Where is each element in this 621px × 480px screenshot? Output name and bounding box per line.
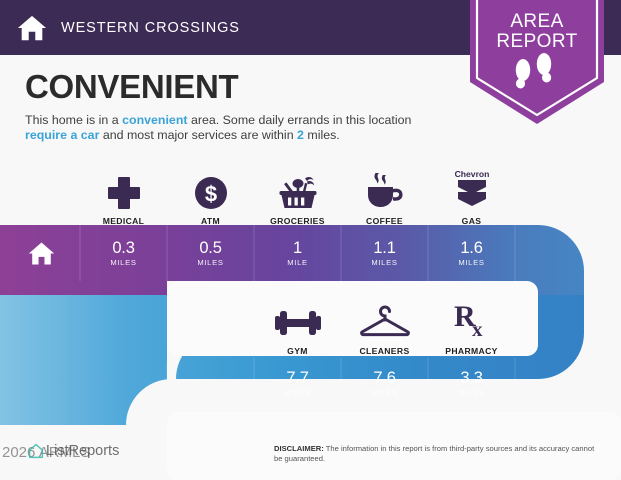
- distance-cell-atm: 0.5 MILES: [167, 239, 254, 267]
- clothes-hanger-icon: [359, 298, 411, 340]
- medical-cross-icon: [107, 168, 141, 210]
- badge-line-1: AREA: [470, 12, 604, 32]
- amenity-coffee: COFFEE: [341, 168, 428, 226]
- distance-row-1: 0.3 MILES 0.5 MILES 1 MILE 1.1 MILES 1.6…: [80, 239, 515, 267]
- report-description: This home is in a convenient area. Some …: [25, 113, 445, 142]
- distance-value: 7.6: [341, 369, 428, 387]
- distance-unit: MILES: [341, 388, 428, 397]
- amenity-icons-row-1: MEDICAL $ ATM: [80, 168, 515, 226]
- chevron-gas-icon: Chevron: [449, 168, 495, 210]
- svg-text:$: $: [204, 182, 216, 207]
- desc-part-3: and most major services are within: [99, 128, 297, 142]
- badge-line-2: REPORT: [470, 32, 604, 52]
- amenity-pharmacy: R x PHARMACY: [428, 298, 515, 356]
- community-name: WESTERN CROSSINGS: [61, 20, 240, 36]
- amenity-cleaners: CLEANERS: [341, 298, 428, 356]
- amenity-label: GYM: [287, 346, 308, 356]
- listreports-logo-text: ListReports: [46, 443, 119, 459]
- amenity-icons-row-2: GYM CLEANERS R x PHARMACY: [254, 298, 515, 356]
- disclaimer: DISCLAIMER: The information in this repo…: [274, 444, 604, 464]
- svg-text:x: x: [472, 317, 483, 340]
- distance-value: 7.7: [254, 369, 341, 387]
- home-icon: [17, 13, 47, 43]
- amenity-atm: $ ATM: [167, 168, 254, 226]
- distance-value: 0.3: [80, 239, 167, 257]
- rx-prescription-icon: R x: [452, 298, 492, 340]
- distance-value: 1.6: [428, 239, 515, 257]
- area-report-badge: AREA REPORT: [470, 0, 604, 124]
- desc-highlight-2: require a car: [25, 128, 99, 142]
- amenity-label: ATM: [201, 216, 220, 226]
- ribbon-home-icon: [28, 240, 55, 267]
- grocery-basket-icon: [278, 168, 318, 210]
- distance-unit: MILE: [254, 258, 341, 267]
- disclaimer-label: DISCLAIMER:: [274, 444, 324, 453]
- distance-cell-pharmacy: 3.3 MILES: [428, 369, 515, 397]
- distance-cell-gym: 7.7 MILES: [254, 369, 341, 397]
- amenity-label: COFFEE: [366, 216, 403, 226]
- svg-text:Chevron: Chevron: [454, 169, 489, 179]
- amenity-label: GAS: [462, 216, 482, 226]
- distance-cell-cleaners: 7.6 MILES: [341, 369, 428, 397]
- amenity-label: PHARMACY: [445, 346, 497, 356]
- distance-unit: MILES: [428, 258, 515, 267]
- listreports-logo: ListReports: [28, 443, 119, 459]
- distance-value: 1.1: [341, 239, 428, 257]
- amenity-label: GROCERIES: [270, 216, 325, 226]
- dollar-circle-icon: $: [194, 168, 228, 210]
- page-title: CONVENIENT: [25, 68, 238, 106]
- distance-value: 1: [254, 239, 341, 257]
- area-report-page: WESTERN CROSSINGS AREA REPORT CONVENIENT…: [0, 0, 621, 480]
- distance-cell-coffee: 1.1 MILES: [341, 239, 428, 267]
- distance-cell-groceries: 1 MILE: [254, 239, 341, 267]
- distance-unit: MILES: [254, 388, 341, 397]
- desc-highlight-3: 2: [297, 128, 304, 142]
- distance-unit: MILES: [167, 258, 254, 267]
- coffee-cup-icon: [364, 168, 406, 210]
- amenity-label: CLEANERS: [359, 346, 409, 356]
- amenity-groceries: GROCERIES: [254, 168, 341, 226]
- distance-value: 3.3: [428, 369, 515, 387]
- dumbbell-icon: [275, 298, 321, 340]
- distance-value: 0.5: [167, 239, 254, 257]
- distance-unit: MILES: [341, 258, 428, 267]
- desc-part-2: area. Some daily errands in this locatio…: [188, 113, 412, 127]
- amenity-medical: MEDICAL: [80, 168, 167, 226]
- distance-cell-gas: 1.6 MILES: [428, 239, 515, 267]
- desc-highlight-1: convenient: [122, 113, 187, 127]
- house-outline-icon: [28, 443, 44, 459]
- distance-cell-medical: 0.3 MILES: [80, 239, 167, 267]
- amenity-gym: GYM: [254, 298, 341, 356]
- distance-unit: MILES: [428, 388, 515, 397]
- distance-row-2: 7.7 MILES 7.6 MILES 3.3 MILES: [254, 369, 515, 397]
- desc-part-4: miles.: [304, 128, 340, 142]
- badge-text: AREA REPORT: [470, 12, 604, 52]
- distance-unit: MILES: [80, 258, 167, 267]
- desc-part-1: This home is in a: [25, 113, 122, 127]
- amenity-gas: Chevron GAS: [428, 168, 515, 226]
- amenity-label: MEDICAL: [103, 216, 145, 226]
